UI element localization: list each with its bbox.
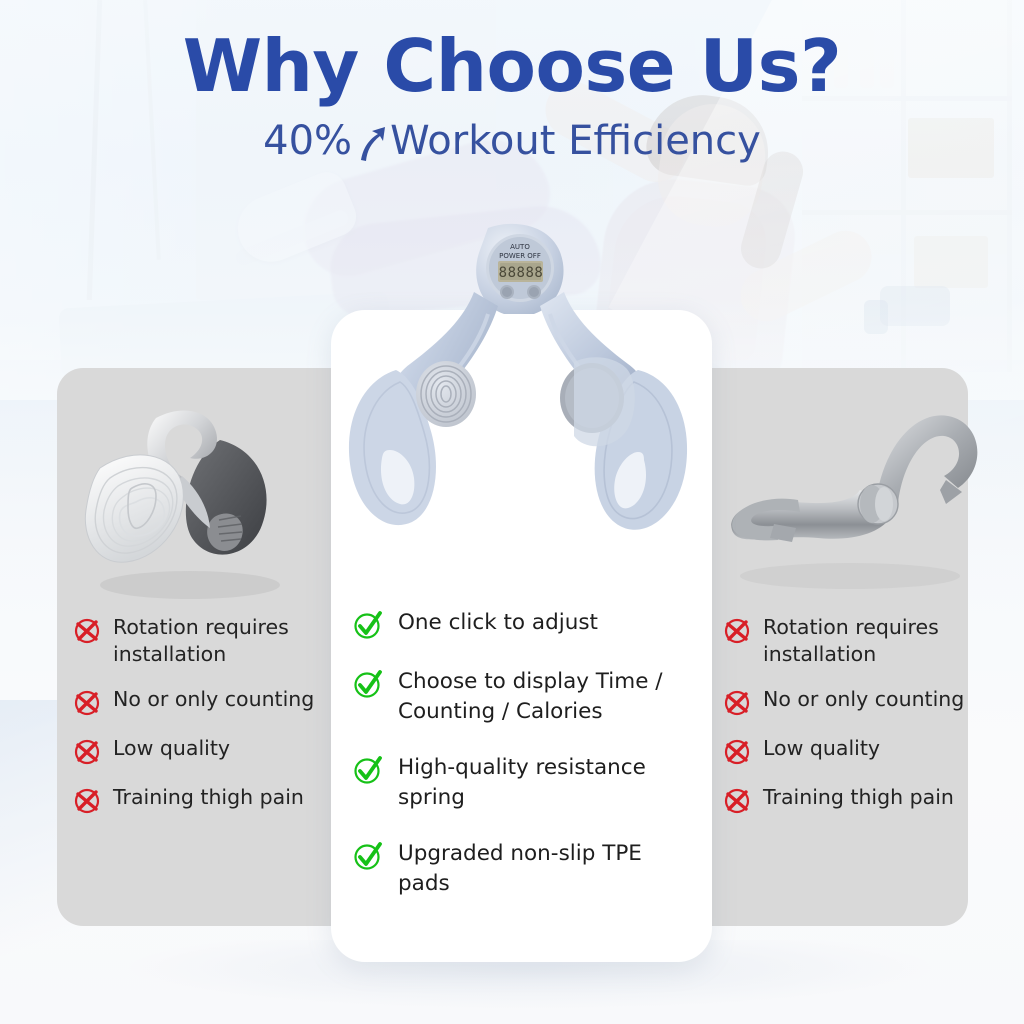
list-item-label: Rotation requires installation — [113, 614, 322, 668]
infographic-canvas: Why Choose Us? 40% Workout Efficiency — [0, 0, 1024, 1024]
competitor-right-product-image — [700, 380, 1000, 600]
list-item-label: Rotation requires installation — [763, 614, 982, 668]
page-subtitle: 40% Workout Efficiency — [0, 118, 1024, 164]
display-label-auto: AUTO — [510, 243, 530, 251]
arrow-up-trend-icon — [354, 123, 388, 163]
x-circle-icon — [72, 615, 102, 645]
competitor-left-product-image — [70, 380, 350, 610]
list-item: Training thigh pain — [72, 784, 322, 815]
list-item: Training thigh pain — [722, 784, 982, 815]
x-circle-icon — [722, 785, 752, 815]
list-item: Low quality — [722, 735, 982, 766]
display-readout: 88888 — [499, 265, 544, 281]
list-item: Rotation requires installation — [722, 614, 982, 668]
list-item-label: Upgraded non-slip TPE pads — [398, 839, 690, 899]
list-item: One click to adjust — [352, 608, 690, 641]
list-item: Upgraded non-slip TPE pads — [352, 839, 690, 899]
list-item: High-quality resistance spring — [352, 753, 690, 813]
subtitle-percent: 40% — [263, 118, 352, 164]
check-circle-icon — [352, 840, 384, 872]
check-circle-icon — [352, 609, 384, 641]
check-circle-icon — [352, 668, 384, 700]
x-circle-icon — [72, 736, 102, 766]
page-title: Why Choose Us? — [0, 24, 1024, 108]
competitor-right-feature-list: Rotation requires installation No or onl… — [722, 614, 982, 833]
list-item: No or only counting — [72, 686, 322, 717]
list-item-label: One click to adjust — [398, 608, 598, 638]
featured-product-image: AUTO POWER OFF 88888 — [338, 222, 706, 582]
list-item-label: Low quality — [113, 735, 230, 762]
x-circle-icon — [722, 615, 752, 645]
list-item-label: Training thigh pain — [763, 784, 954, 811]
featured-feature-list: One click to adjust Choose to display Ti… — [352, 608, 690, 925]
display-label-power-off: POWER OFF — [499, 252, 541, 260]
list-item: Rotation requires installation — [72, 614, 322, 668]
x-circle-icon — [72, 785, 102, 815]
list-item: No or only counting — [722, 686, 982, 717]
list-item-label: Choose to display Time / Counting / Calo… — [398, 667, 690, 727]
x-circle-icon — [722, 687, 752, 717]
competitor-left-feature-list: Rotation requires installation No or onl… — [72, 614, 322, 833]
list-item-label: High-quality resistance spring — [398, 753, 690, 813]
check-circle-icon — [352, 754, 384, 786]
x-circle-icon — [72, 687, 102, 717]
list-item-label: No or only counting — [763, 686, 964, 713]
x-circle-icon — [722, 736, 752, 766]
list-item-label: Training thigh pain — [113, 784, 304, 811]
subtitle-text: Workout Efficiency — [390, 118, 761, 164]
list-item: Choose to display Time / Counting / Calo… — [352, 667, 690, 727]
list-item-label: No or only counting — [113, 686, 314, 713]
list-item: Low quality — [72, 735, 322, 766]
list-item-label: Low quality — [763, 735, 880, 762]
